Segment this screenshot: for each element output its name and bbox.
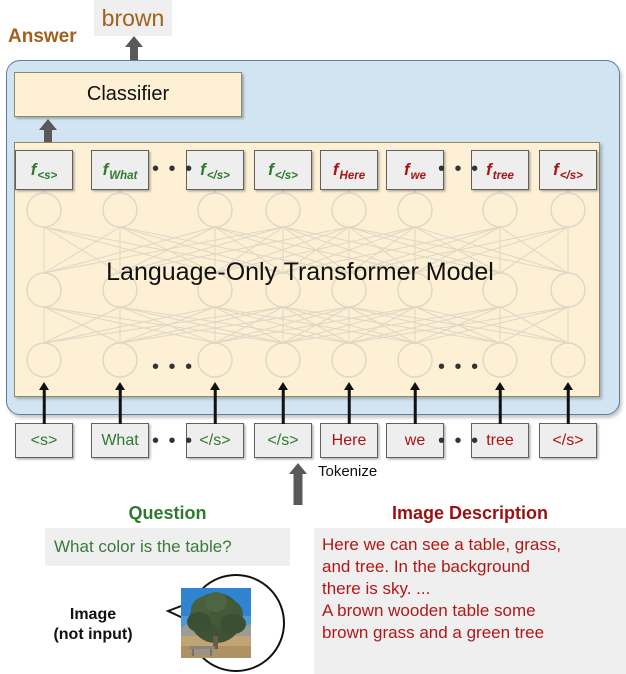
feature-box-2: f</s> [186,150,244,190]
feature-box-5: fwe [386,150,444,190]
neuron-r0-c6 [483,193,517,227]
token-text: <s> [31,432,58,450]
arrow-token-3-to-model [277,382,289,424]
token-box-3: </s> [254,423,312,458]
arrow-token-7-to-model [562,382,574,424]
token-box-1: What [91,423,149,458]
neuron-r0-c1 [103,193,137,227]
feature-box-3: f</s> [254,150,312,190]
neuron-r0-c7 [551,193,585,227]
arrow-token-2-to-model [209,382,221,424]
feature-symbol: f [200,160,206,180]
feature-subscript: </s> [275,170,298,182]
question-box: What color is the table? [45,528,290,566]
feature-symbol: f [31,160,37,180]
question-header: Question [45,503,290,524]
classifier-box: Classifier [14,72,242,117]
feature-box-7: f</s> [539,150,597,190]
token-text: </s> [552,432,583,450]
ellipsis-features-left: • • • [152,158,194,181]
neuron-r2-c3 [266,343,300,377]
tokenize-label: Tokenize [318,463,377,480]
arrow-token-1-to-model [114,382,126,424]
token-text: </s> [199,432,230,450]
ellipsis-neurons-left: • • • [152,356,194,379]
feature-subscript: </s> [560,170,583,182]
question-text: What color is the table? [45,537,232,557]
ellipsis-features-right: • • • [438,158,480,181]
ellipsis-tokens-right: • • • [438,430,480,453]
feature-subscript: What [109,170,137,182]
arrow-token-6-to-model [494,382,506,424]
feature-symbol: f [333,160,339,180]
feature-subscript: tree [493,170,514,182]
arrow-token-5-to-model [409,382,421,424]
feature-symbol: f [486,160,492,180]
answer-label: Answer [8,26,77,48]
image-description-text: Here we can see a table, grass, and tree… [322,534,618,644]
feature-subscript: Here [340,170,366,182]
feature-symbol: f [103,160,109,180]
token-text: Here [332,432,367,450]
image-description-header: Image Description [314,503,626,524]
model-title: Language-Only Transformer Model [0,258,600,287]
neuron-r0-c4 [332,193,366,227]
classifier-label: Classifier [87,83,169,106]
token-box-4: Here [320,423,378,458]
neuron-r0-c2 [198,193,232,227]
token-box-7: </s> [539,423,597,458]
tree-photo [181,588,251,658]
neuron-r2-c2 [198,343,232,377]
feature-symbol: f [404,160,410,180]
feature-subscript: <s> [37,170,57,182]
feature-symbol: f [553,160,559,180]
token-text: </s> [267,432,298,450]
neuron-r2-c6 [483,343,517,377]
neuron-r2-c7 [551,343,585,377]
neuron-r0-c5 [398,193,432,227]
image-description-box: Here we can see a table, grass, and tree… [314,528,626,674]
neuron-r0-c0 [27,193,61,227]
neuron-r2-c0 [27,343,61,377]
answer-box: brown [94,0,172,36]
token-box-5: we [386,423,444,458]
arrow-tokenize [288,463,308,505]
token-box-0: <s> [15,423,73,458]
feature-box-0: f<s> [15,150,73,190]
token-text: tree [486,432,514,450]
token-text: we [405,432,425,450]
token-text: What [101,432,138,450]
feature-symbol: f [268,160,274,180]
feature-subscript: </s> [207,170,230,182]
neuron-r2-c5 [398,343,432,377]
feature-box-4: fHere [320,150,378,190]
feature-subscript: we [411,170,426,182]
feature-box-1: fWhat [91,150,149,190]
neuron-r0-c3 [266,193,300,227]
ellipsis-neurons-right: • • • [438,356,480,379]
arrow-token-4-to-model [343,382,355,424]
token-box-2: </s> [186,423,244,458]
image-not-input-label: Image(not input) [38,605,148,645]
ellipsis-tokens-left: • • • [152,430,194,453]
answer-value: brown [102,5,165,32]
arrow-token-0-to-model [38,382,50,424]
neuron-r2-c4 [332,343,366,377]
neuron-r2-c1 [103,343,137,377]
